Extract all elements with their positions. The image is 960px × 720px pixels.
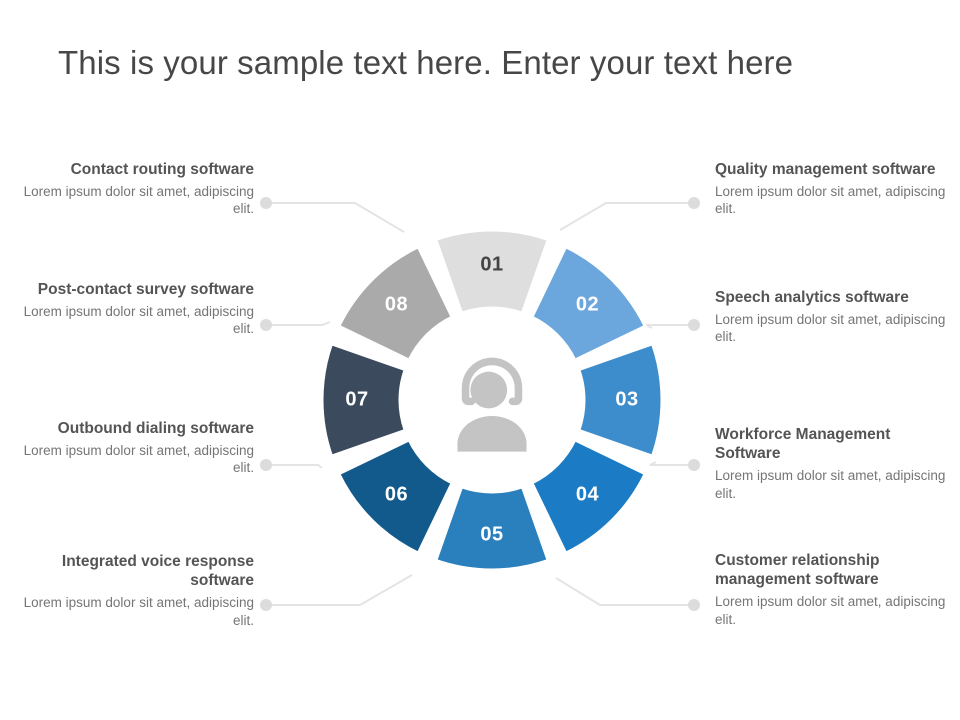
label-title: Speech analytics software: [715, 288, 947, 307]
connector-dot-06: [260, 599, 272, 611]
donut-segment-number-05: 05: [480, 524, 503, 547]
label-description: Lorem ipsum dolor sit amet, adipiscing e…: [22, 594, 254, 629]
label-description: Lorem ipsum dolor sit amet, adipiscing e…: [22, 303, 254, 338]
donut-segment-number-01: 01: [480, 254, 503, 277]
donut-segment-number-02: 02: [576, 293, 599, 316]
label-title: Outbound dialing software: [22, 419, 254, 438]
donut-chart: 0102030405060708: [292, 200, 692, 600]
label-block-integrated-voice-response-software[interactable]: Integrated voice response software Lorem…: [22, 552, 254, 629]
label-block-post-contact-survey-software[interactable]: Post-contact survey software Lorem ipsum…: [22, 280, 254, 338]
label-title: Workforce Management Software: [715, 425, 947, 463]
label-description: Lorem ipsum dolor sit amet, adipiscing e…: [22, 183, 254, 218]
label-block-outbound-dialing-software[interactable]: Outbound dialing software Lorem ipsum do…: [22, 419, 254, 477]
connector-dot-07: [260, 459, 272, 471]
label-title: Contact routing software: [22, 160, 254, 179]
label-description: Lorem ipsum dolor sit amet, adipiscing e…: [715, 311, 947, 346]
connector-dot-08: [260, 319, 272, 331]
label-description: Lorem ipsum dolor sit amet, adipiscing e…: [22, 442, 254, 477]
label-block-customer-relationship-management-software[interactable]: Customer relationship management softwar…: [715, 551, 947, 628]
label-block-contact-routing-software[interactable]: Contact routing software Lorem ipsum dol…: [22, 160, 254, 218]
label-block-quality-management-software[interactable]: Quality management software Lorem ipsum …: [715, 160, 947, 218]
connector-dot-01: [260, 197, 272, 209]
label-title: Post-contact survey software: [22, 280, 254, 299]
donut-segment-number-03: 03: [615, 389, 638, 412]
donut-segment-number-07: 07: [345, 389, 368, 412]
label-description: Lorem ipsum dolor sit amet, adipiscing e…: [715, 467, 947, 502]
donut-segment-number-08: 08: [385, 293, 408, 316]
page-title: This is your sample text here. Enter you…: [58, 44, 918, 82]
label-description: Lorem ipsum dolor sit amet, adipiscing e…: [715, 593, 947, 628]
donut-segment-number-06: 06: [385, 484, 408, 507]
label-block-workforce-management-software[interactable]: Workforce Management Software Lorem ipsu…: [715, 425, 947, 502]
label-title: Quality management software: [715, 160, 947, 179]
label-title: Integrated voice response software: [22, 552, 254, 590]
label-description: Lorem ipsum dolor sit amet, adipiscing e…: [715, 183, 947, 218]
label-block-speech-analytics-software[interactable]: Speech analytics software Lorem ipsum do…: [715, 288, 947, 346]
donut-segment-number-04: 04: [576, 484, 599, 507]
label-title: Customer relationship management softwar…: [715, 551, 947, 589]
